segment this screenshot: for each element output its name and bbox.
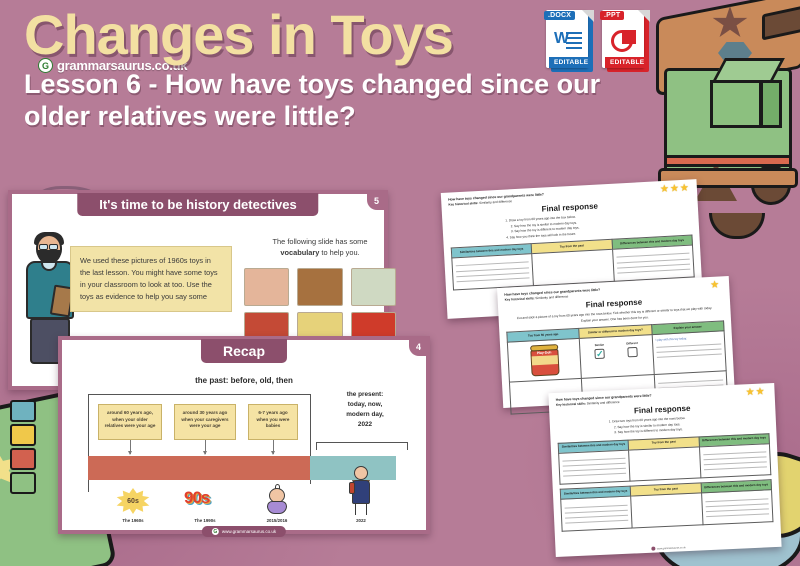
worksheet3-skill-value: Similarity and difference: [586, 400, 620, 406]
vocab-line-2: to help you.: [319, 248, 359, 257]
checkbox-similar[interactable]: ✓: [595, 349, 606, 360]
cell-similarities[interactable]: [561, 496, 633, 531]
answer-text: I play with this toy today.: [656, 335, 721, 342]
worksheet2-skill-label: Key historical skills:: [505, 297, 535, 303]
timeline-box: 6-7 years ago when you were babies: [248, 404, 298, 440]
worksheet-two-star[interactable]: How have toys changed since our grandpar…: [548, 383, 781, 557]
timeline-past-bar: [88, 456, 310, 480]
ppt-editable-label: EDITABLE: [605, 57, 649, 68]
star-icon: ★: [710, 281, 719, 291]
cell-differences[interactable]: [699, 443, 771, 478]
cell-toy-drawing[interactable]: [532, 249, 614, 285]
play-doh-can-icon: Play-Doh: [529, 344, 561, 378]
slide-recap[interactable]: 4 Recap the past: before, old, then arou…: [58, 336, 430, 534]
checkbox-similar-label: Similar: [594, 343, 604, 348]
worksheet1-stars: ★ ★ ★: [660, 184, 689, 196]
checkbox-similar-group[interactable]: Similar ✓: [594, 343, 605, 360]
cell-explain[interactable]: I play with this toy today.: [652, 331, 726, 375]
worksheet2-skill-value: Similarity and difference: [534, 295, 568, 301]
checkbox-different-label: Different: [626, 341, 638, 346]
girl-illustration: [350, 466, 372, 516]
timeline-caption: 2015/2016: [250, 518, 304, 523]
page-title: Changes in Toys: [0, 0, 800, 63]
slide5-number: 5: [367, 194, 384, 210]
slide4-number: 4: [409, 340, 426, 356]
timeline-box: around 60 years ago, when your older rel…: [98, 404, 162, 440]
star-icon: ★: [670, 184, 679, 194]
worksheet2-stars: ★: [710, 281, 719, 291]
era-1990s-icon: 90s: [184, 488, 209, 508]
timeline-caption: The 1960s: [106, 518, 160, 523]
timeline-caption: The 1990s: [178, 518, 232, 523]
docx-editable-label: EDITABLE: [549, 57, 593, 68]
checkbox-different[interactable]: [627, 347, 638, 358]
cell-toy-image[interactable]: Play-Doh: [507, 339, 581, 383]
ppt-badge-tag: .PPT: [600, 11, 624, 20]
toy-card: [297, 268, 342, 306]
cell-checkboxes[interactable]: Similar ✓ Different: [580, 335, 654, 379]
docx-badge-tag: .DOCX: [544, 11, 575, 20]
cell-differences[interactable]: [701, 490, 773, 525]
timeline-caption: 2022: [334, 518, 388, 523]
slide5-vocab-text: The following slide has some vocabulary …: [250, 236, 390, 258]
header: Changes in Toys Lesson 6 - How have toys…: [0, 0, 800, 180]
page-subtitle: Lesson 6 - How have toys changed since o…: [0, 63, 660, 133]
cell-similarities[interactable]: [559, 450, 631, 485]
cell-similarities[interactable]: [452, 254, 534, 290]
docx-badge[interactable]: .DOCX W EDITABLE: [546, 10, 594, 72]
timeline-present-label: the present: today, now, modern day, 202…: [320, 390, 410, 430]
star-icon: ★: [680, 184, 689, 194]
toy-card: [244, 268, 289, 306]
star-icon: ★: [660, 185, 669, 195]
era-1960s-icon: 60s: [116, 488, 150, 514]
worksheet1-skill-label: Key historical skills:: [448, 201, 478, 207]
baby-illustration: [266, 488, 288, 514]
cell-toy-drawing[interactable]: [629, 447, 701, 482]
checkbox-different-group[interactable]: Different: [626, 341, 638, 358]
slide4-banner: Recap: [201, 339, 287, 363]
background-crayons-left: [0, 400, 56, 566]
star-icon: ★: [755, 387, 764, 397]
slide5-banner: It's time to be history detectives: [77, 193, 318, 216]
slide4-footer-text: www.grammarsaurus.co.uk: [222, 529, 276, 534]
star-icon: ★: [745, 388, 754, 398]
worksheet3-skill-label: Key historical skills:: [556, 402, 586, 407]
vocab-line-1: The following slide has some: [273, 237, 368, 246]
worksheet3-footer-text: www.grammarsaurus.co.uk: [657, 546, 686, 550]
worksheet1-skill-value: Similarity and difference: [478, 200, 512, 206]
toy-card: [351, 268, 396, 306]
timeline-box: around 30 years ago when your caregivers…: [174, 404, 236, 440]
timeline: around 60 years ago, when your older rel…: [84, 392, 412, 518]
cell-differences[interactable]: [612, 245, 694, 281]
brand-dot-icon: [651, 547, 655, 551]
worksheet3-footer: www.grammarsaurus.co.uk: [651, 545, 685, 551]
cell-toy-drawing[interactable]: [631, 493, 703, 528]
pie-chart-icon: [611, 30, 633, 52]
worksheet3-table-1[interactable]: Similarities between this and modern day…: [558, 433, 772, 485]
worksheet3-stars: ★ ★: [745, 387, 764, 398]
brand-dot-icon: G: [212, 528, 219, 535]
ppt-badge[interactable]: .PPT EDITABLE: [602, 10, 650, 72]
slide5-left-text: We used these pictures of 1960s toys in …: [70, 246, 232, 312]
format-badges: .DOCX W EDITABLE .PPT EDITABLE: [546, 10, 650, 72]
vocab-keyword: vocabulary: [280, 248, 319, 257]
worksheet3-table-2[interactable]: Similarities between this and modern day…: [560, 480, 774, 532]
timeline-past-label: the past: before, old, then: [62, 376, 426, 385]
slide4-footer: G www.grammarsaurus.co.uk: [202, 526, 286, 537]
document-lines-icon: [566, 32, 582, 52]
era-1960s-label: 60s: [116, 488, 150, 514]
